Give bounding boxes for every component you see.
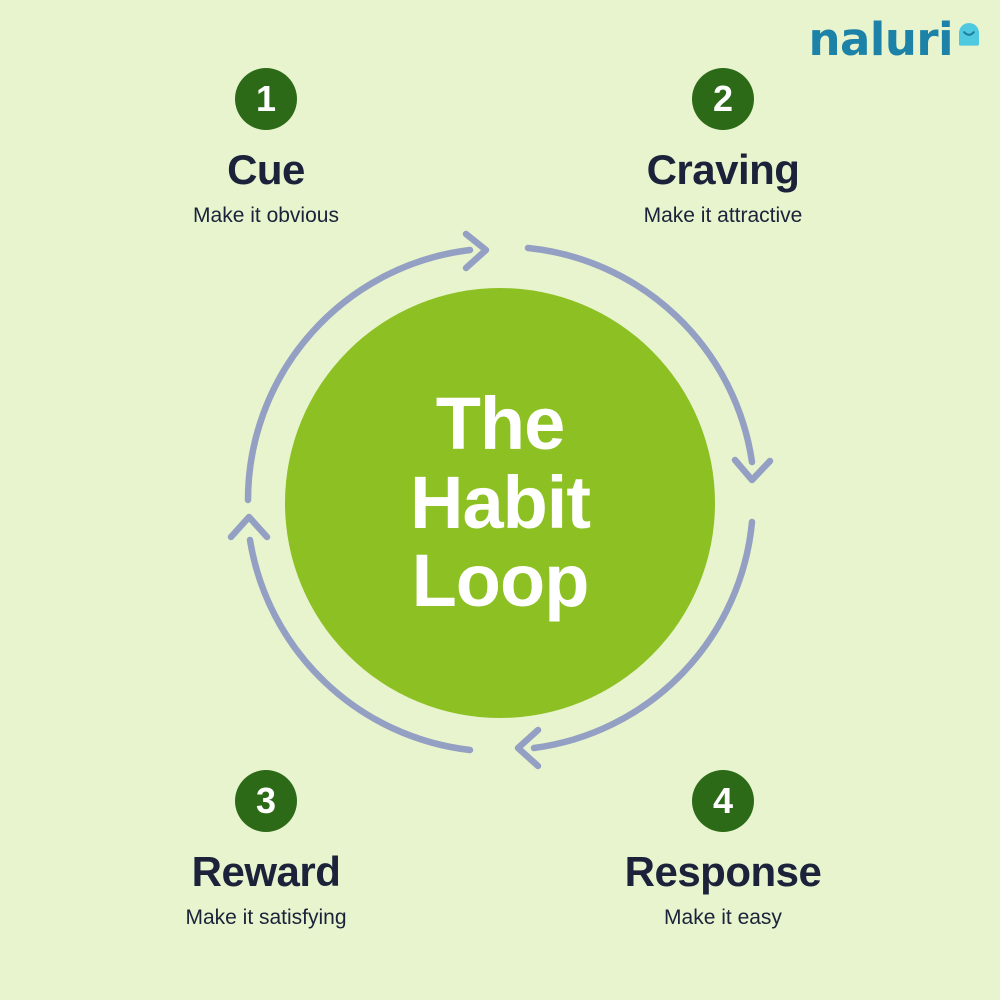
center-title: The Habit Loop bbox=[410, 385, 590, 620]
step-title-4: Response bbox=[553, 850, 893, 894]
step-subtitle-4: Make it easy bbox=[553, 905, 893, 930]
arrowhead-bottom bbox=[518, 730, 538, 766]
step-badge-2: 2 bbox=[692, 68, 754, 130]
habit-loop-infographic: naluri The Habit Loop 1 Cue bbox=[0, 0, 1000, 1000]
arrowhead-right bbox=[735, 460, 770, 480]
arrowhead-left bbox=[231, 517, 267, 537]
center-circle: The Habit Loop bbox=[285, 288, 715, 718]
step-number-3: 3 bbox=[256, 783, 276, 819]
arrowhead-top bbox=[466, 234, 486, 268]
step-craving: 2 Craving Make it attractive bbox=[553, 68, 893, 228]
brand-logo: naluri bbox=[809, 14, 982, 66]
step-title-1: Cue bbox=[96, 148, 436, 192]
step-response: 4 Response Make it easy bbox=[553, 770, 893, 930]
step-badge-3: 3 bbox=[235, 770, 297, 832]
step-title-2: Craving bbox=[553, 148, 893, 192]
step-number-1: 1 bbox=[256, 81, 276, 117]
step-subtitle-3: Make it satisfying bbox=[96, 905, 436, 930]
naluri-smile-badge-icon bbox=[956, 20, 982, 48]
step-subtitle-2: Make it attractive bbox=[553, 203, 893, 228]
step-title-3: Reward bbox=[96, 850, 436, 894]
step-cue: 1 Cue Make it obvious bbox=[96, 68, 436, 228]
step-badge-1: 1 bbox=[235, 68, 297, 130]
step-number-4: 4 bbox=[713, 783, 733, 819]
step-number-2: 2 bbox=[713, 81, 733, 117]
step-badge-4: 4 bbox=[692, 770, 754, 832]
step-reward: 3 Reward Make it satisfying bbox=[96, 770, 436, 930]
step-subtitle-1: Make it obvious bbox=[96, 203, 436, 228]
brand-wordmark: naluri bbox=[809, 14, 953, 66]
